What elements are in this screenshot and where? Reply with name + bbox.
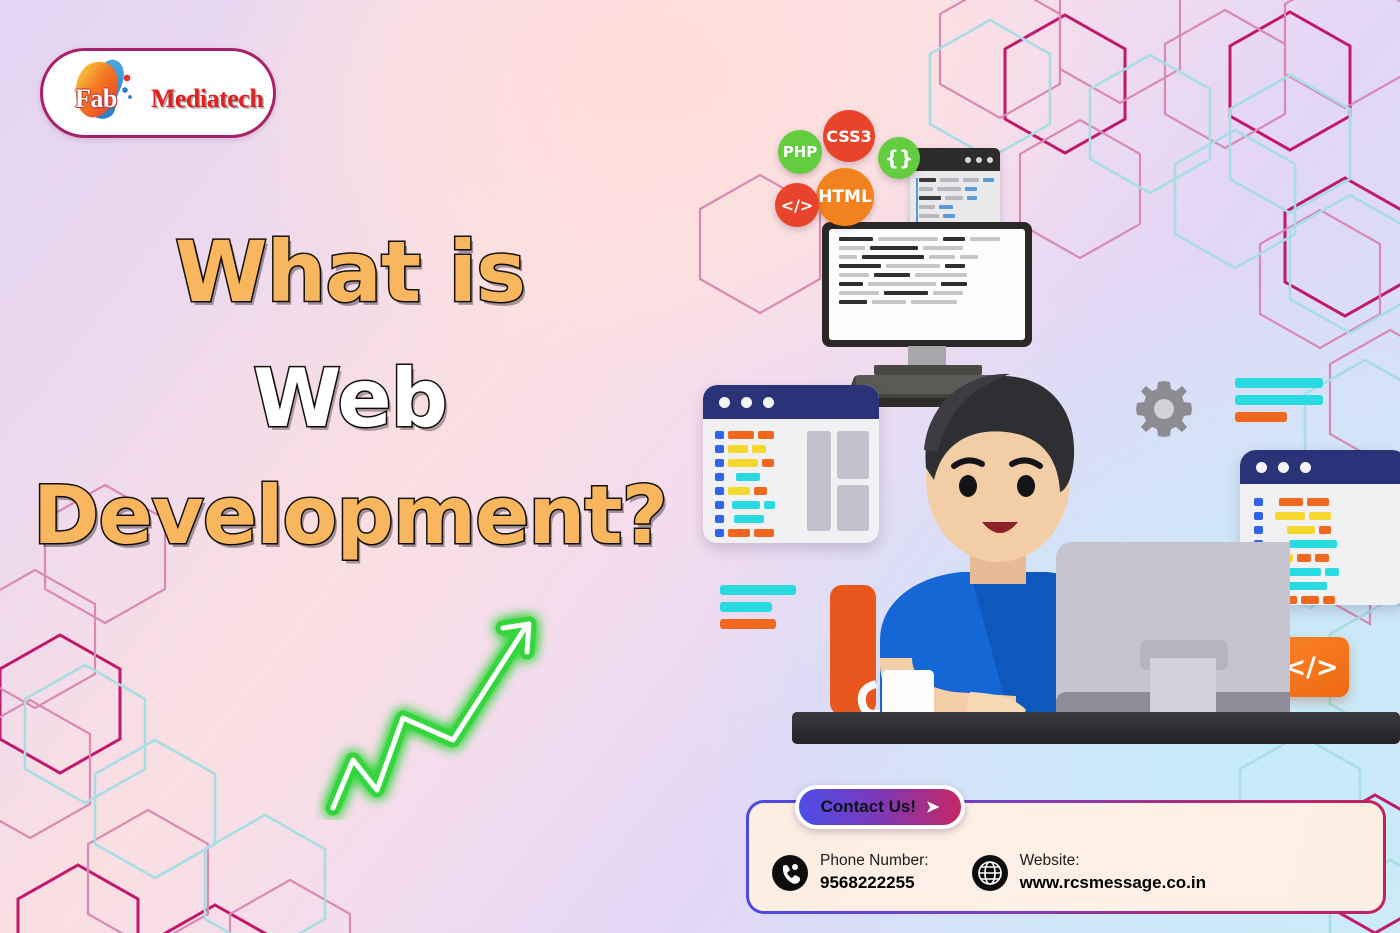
- css3-badge: CSS3: [823, 110, 875, 162]
- website-contact-item[interactable]: Website: www.rcsmessage.co.in: [971, 851, 1206, 894]
- text-bars-left: [720, 585, 796, 629]
- logo-text-secondary: Mediatech: [151, 84, 263, 113]
- phone-value: 9568222255: [820, 872, 929, 894]
- phone-circle-icon: [771, 854, 809, 892]
- headline-line-2: Web: [0, 358, 700, 440]
- developer-character: [820, 340, 1290, 740]
- php-badge: PHP: [778, 130, 822, 174]
- logo-text-primary: Fab: [75, 84, 117, 113]
- window-dot-icon: [741, 397, 752, 408]
- desktop-monitor-illustration: [822, 222, 1032, 347]
- contact-us-button[interactable]: Contact Us! ➤: [795, 785, 965, 829]
- brand-logo[interactable]: FabMediatech: [40, 48, 276, 138]
- growth-arrow-icon: [315, 600, 565, 820]
- website-value: www.rcsmessage.co.in: [1020, 872, 1206, 894]
- window-dot-icon: [1300, 462, 1311, 473]
- mini-window-titlebar: [910, 148, 1000, 171]
- window-dot-icon: [719, 397, 730, 408]
- phone-label: Phone Number:: [820, 851, 929, 872]
- contact-us-label: Contact Us!: [821, 797, 916, 817]
- window-dot-icon: [976, 157, 982, 163]
- window-dot-icon: [987, 157, 993, 163]
- window-dot-icon: [965, 157, 971, 163]
- headline-block: What is Web Development?: [0, 230, 700, 557]
- globe-icon: [971, 854, 1009, 892]
- developer-illustration: PHP CSS3 {} HTML </>: [670, 0, 1400, 800]
- curly-braces-badge: {}: [878, 137, 920, 179]
- html-badge: HTML: [816, 168, 874, 226]
- headline-line-3: Development?: [0, 475, 700, 557]
- window-dot-icon: [763, 397, 774, 408]
- desk-surface: [792, 712, 1400, 744]
- code-badge: </>: [775, 183, 819, 227]
- headline-line-1: What is: [0, 230, 700, 316]
- play-arrow-icon: ➤: [926, 797, 939, 817]
- website-label: Website:: [1020, 851, 1206, 872]
- phone-contact-item[interactable]: Phone Number: 9568222255: [771, 851, 929, 894]
